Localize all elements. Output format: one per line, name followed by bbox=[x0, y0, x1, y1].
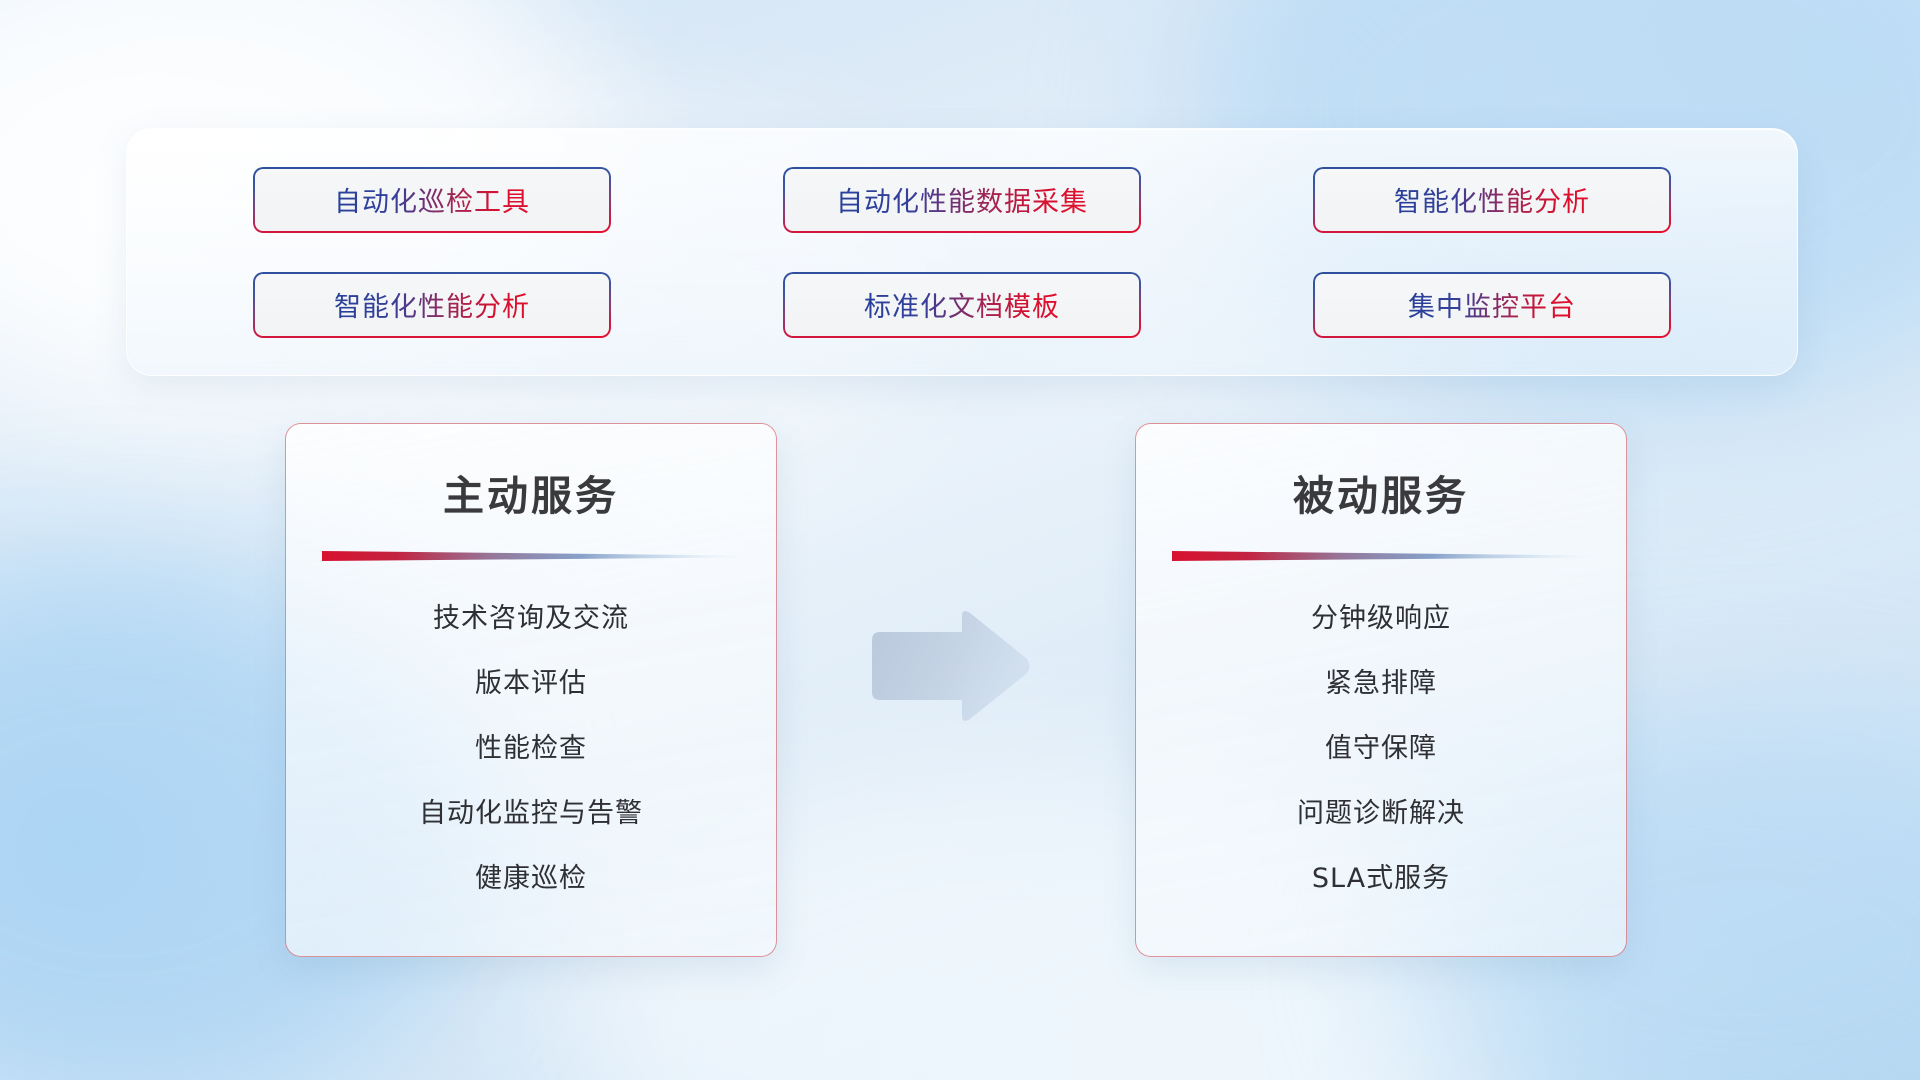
list-item: SLA式服务 bbox=[1170, 856, 1592, 895]
list-item: 性能检查 bbox=[320, 726, 742, 765]
capability-pill-label: 自动化巡检工具 bbox=[334, 180, 530, 219]
list-item: 版本评估 bbox=[320, 661, 742, 700]
capability-pill-label: 智能化性能分析 bbox=[334, 285, 530, 324]
list-item: 技术咨询及交流 bbox=[320, 596, 742, 635]
list-item: 健康巡检 bbox=[320, 856, 742, 895]
capability-pill[interactable]: 集中监控平台 bbox=[1313, 272, 1671, 338]
capability-pill-label: 智能化性能分析 bbox=[1394, 180, 1590, 219]
capability-pill[interactable]: 智能化性能分析 bbox=[1313, 167, 1671, 233]
list-item: 分钟级响应 bbox=[1170, 596, 1592, 635]
card-item-list: 技术咨询及交流 版本评估 性能检查 自动化监控与告警 健康巡检 bbox=[320, 596, 742, 895]
card-item-list: 分钟级响应 紧急排障 值守保障 问题诊断解决 SLA式服务 bbox=[1170, 596, 1592, 895]
list-item: 问题诊断解决 bbox=[1170, 791, 1592, 830]
capability-pill[interactable]: 自动化巡检工具 bbox=[253, 167, 611, 233]
capability-pill[interactable]: 标准化文档模板 bbox=[783, 272, 1141, 338]
capability-pill-label: 自动化性能数据采集 bbox=[836, 180, 1088, 219]
service-card-proactive: 主动服务 技术咨询及交流 版本评估 性能检查 bbox=[285, 423, 777, 957]
slide-canvas: 自动化巡检工具 自动化性能数据采集 智能化性能分析 智能化性能分析 标准化文档模… bbox=[0, 0, 1920, 1080]
capabilities-panel: 自动化巡检工具 自动化性能数据采集 智能化性能分析 智能化性能分析 标准化文档模… bbox=[126, 128, 1798, 376]
list-item: 值守保障 bbox=[1170, 726, 1592, 765]
card-title: 被动服务 bbox=[1170, 462, 1592, 522]
capability-pill-label: 标准化文档模板 bbox=[864, 285, 1060, 324]
arrow-right-icon bbox=[866, 608, 1032, 724]
capability-pill[interactable]: 自动化性能数据采集 bbox=[783, 167, 1141, 233]
capability-pill[interactable]: 智能化性能分析 bbox=[253, 272, 611, 338]
title-underline-accent bbox=[1172, 548, 1590, 562]
capability-pill-label: 集中监控平台 bbox=[1408, 285, 1576, 324]
list-item: 自动化监控与告警 bbox=[320, 791, 742, 830]
list-item: 紧急排障 bbox=[1170, 661, 1592, 700]
card-title: 主动服务 bbox=[320, 462, 742, 522]
title-underline-accent bbox=[322, 548, 740, 562]
service-card-reactive: 被动服务 分钟级响应 紧急排障 值守保障 bbox=[1135, 423, 1627, 957]
